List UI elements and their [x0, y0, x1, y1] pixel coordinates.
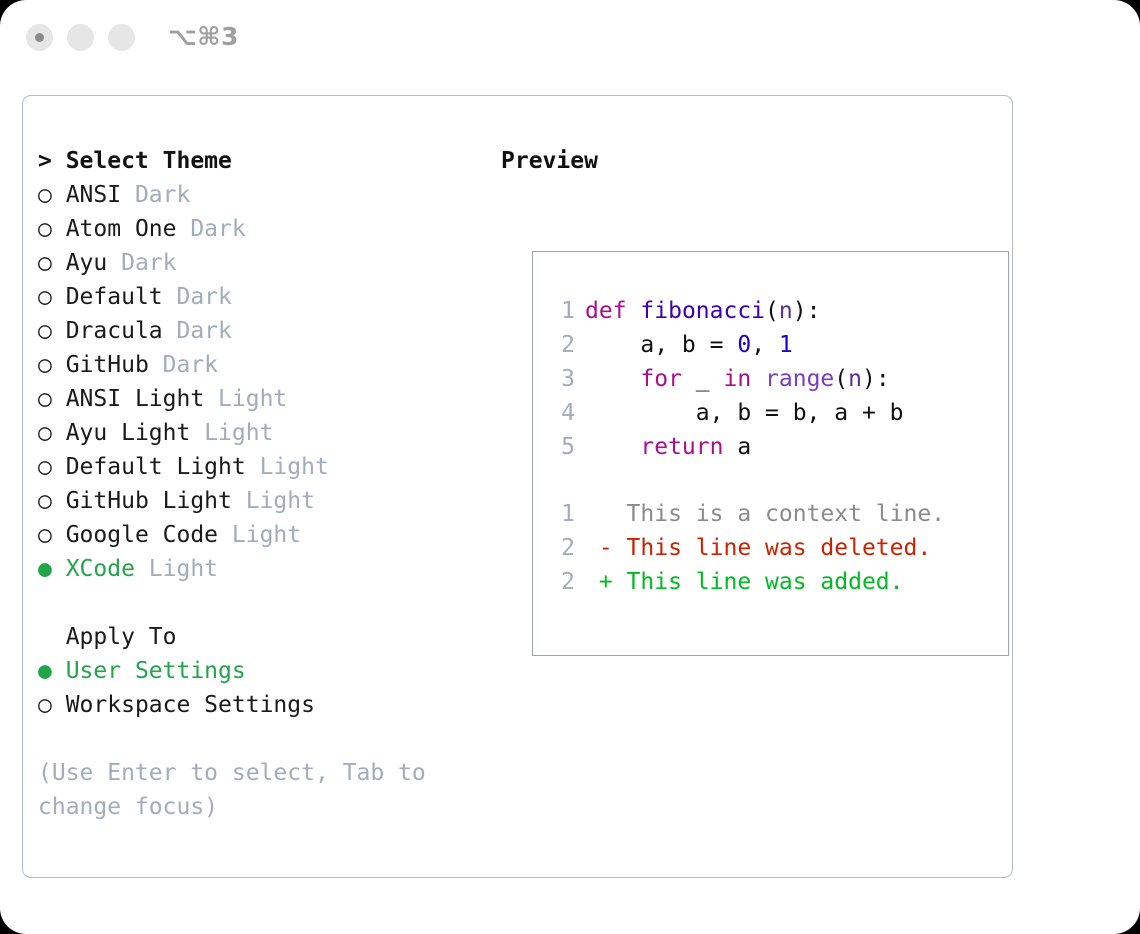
code-token [751, 366, 765, 392]
theme-category: Light [246, 488, 315, 514]
minimize-button-icon[interactable] [67, 24, 94, 51]
code-line-number: 5 [553, 430, 575, 464]
apply-to-label: Apply To [66, 624, 177, 650]
code-token [627, 298, 641, 324]
theme-name: Ayu Light [66, 420, 204, 446]
radio-unselected-icon[interactable]: ○ [38, 420, 66, 446]
code-token: ): [793, 298, 821, 324]
theme-name: XCode [66, 556, 149, 582]
theme-selector-panel: > Select Theme ○ ANSI Dark○ Atom One Dar… [22, 95, 1013, 878]
diff-line: 2 + This line was added. [553, 565, 945, 599]
theme-category: Dark [135, 182, 190, 208]
theme-category: Light [260, 454, 329, 480]
theme-category: Light [218, 386, 287, 412]
code-line-number: 1 [553, 294, 575, 328]
theme-list-item[interactable]: ○ GitHub Dark [38, 348, 478, 382]
theme-category: Light [149, 556, 218, 582]
window-controls [26, 24, 135, 51]
close-dot [35, 33, 44, 42]
select-theme-heading: > Select Theme [38, 144, 478, 178]
radio-selected-icon[interactable]: ● [38, 556, 66, 582]
radio-unselected-icon[interactable]: ○ [38, 284, 66, 310]
code-token: range [765, 366, 834, 392]
theme-name: GitHub [66, 352, 163, 378]
theme-category: Dark [176, 318, 231, 344]
diff-line-text: This is a context line. [585, 501, 945, 527]
code-line-number: 2 [553, 328, 575, 362]
diff-line-number: 1 [553, 497, 575, 531]
code-token: in [723, 366, 751, 392]
code-token: a, b = b, a + b [585, 400, 904, 426]
theme-name: GitHub Light [66, 488, 246, 514]
theme-name: Default Light [66, 454, 260, 480]
radio-unselected-icon[interactable]: ○ [38, 250, 66, 276]
radio-unselected-icon[interactable]: ○ [38, 216, 66, 242]
apply-to-options: ● User Settings○ Workspace Settings [38, 654, 478, 722]
theme-category: Dark [163, 352, 218, 378]
code-token [585, 434, 640, 460]
theme-list-item[interactable]: ○ Default Light Light [38, 450, 478, 484]
theme-list-item[interactable]: ● XCode Light [38, 552, 478, 586]
theme-category: Light [232, 522, 301, 548]
theme-category: Dark [176, 284, 231, 310]
hint-spacer [38, 722, 478, 756]
preview-box: 1def fibonacci(n):2 a, b = 0, 13 for _ i… [532, 251, 1009, 656]
preview-heading: Preview [501, 144, 1001, 178]
code-line: 5 return a [553, 430, 904, 464]
apply-to-option[interactable]: ● User Settings [38, 654, 478, 688]
apply-to-option-label: Workspace Settings [66, 692, 315, 718]
code-token: def [585, 298, 627, 324]
theme-list: ○ ANSI Dark○ Atom One Dark○ Ayu Dark○ De… [38, 178, 478, 586]
keyboard-hint-text: (Use Enter to select, Tab to change focu… [38, 756, 448, 824]
theme-list-item[interactable]: ○ Dracula Dark [38, 314, 478, 348]
theme-name: ANSI Light [66, 386, 218, 412]
theme-list-item[interactable]: ○ ANSI Light Light [38, 382, 478, 416]
apply-to-option[interactable]: ○ Workspace Settings [38, 688, 478, 722]
right-column: Preview 1def fibonacci(n):2 a, b = 0, 13… [501, 144, 1001, 178]
code-line: 2 a, b = 0, 1 [553, 328, 904, 362]
diff-sample: 1 This is a context line.2 - This line w… [553, 497, 945, 599]
code-line: 3 for _ in range(n): [553, 362, 904, 396]
code-token [585, 366, 640, 392]
theme-list-item[interactable]: ○ Ayu Dark [38, 246, 478, 280]
code-token: , [751, 332, 779, 358]
code-token: for [640, 366, 682, 392]
apply-to-indent [38, 624, 66, 650]
close-button-icon[interactable] [26, 24, 53, 51]
code-token: ): [862, 366, 890, 392]
code-token: ( [834, 366, 848, 392]
code-token: n [848, 366, 862, 392]
diff-line: 1 This is a context line. [553, 497, 945, 531]
code-token: 1 [779, 332, 793, 358]
radio-unselected-icon[interactable]: ○ [38, 352, 66, 378]
theme-name: Dracula [66, 318, 177, 344]
title-bar: ⌥⌘3 [0, 0, 1140, 78]
code-line: 1def fibonacci(n): [553, 294, 904, 328]
theme-category: Light [204, 420, 273, 446]
list-spacer [38, 586, 478, 620]
theme-category: Dark [190, 216, 245, 242]
theme-list-item[interactable]: ○ Ayu Light Light [38, 416, 478, 450]
radio-unselected-icon[interactable]: ○ [38, 692, 66, 718]
radio-unselected-icon[interactable]: ○ [38, 318, 66, 344]
code-token: return [640, 434, 723, 460]
theme-name: Google Code [66, 522, 232, 548]
radio-unselected-icon[interactable]: ○ [38, 386, 66, 412]
theme-list-item[interactable]: ○ ANSI Dark [38, 178, 478, 212]
code-token: ( [765, 298, 779, 324]
code-token: 0 [737, 332, 751, 358]
code-line-number: 4 [553, 396, 575, 430]
code-token: _ [682, 366, 724, 392]
theme-category: Dark [121, 250, 176, 276]
radio-unselected-icon[interactable]: ○ [38, 488, 66, 514]
theme-list-item[interactable]: ○ Atom One Dark [38, 212, 478, 246]
radio-unselected-icon[interactable]: ○ [38, 454, 66, 480]
theme-name: ANSI [66, 182, 135, 208]
code-token: n [779, 298, 793, 324]
diff-line-number: 2 [553, 531, 575, 565]
theme-name: Ayu [66, 250, 121, 276]
code-line: 4 a, b = b, a + b [553, 396, 904, 430]
code-token: a [723, 434, 751, 460]
apply-to-option-label: User Settings [66, 658, 246, 684]
radio-unselected-icon[interactable]: ○ [38, 182, 66, 208]
apply-to-heading: Apply To [38, 620, 478, 654]
left-column: > Select Theme ○ ANSI Dark○ Atom One Dar… [38, 144, 478, 824]
code-token: a, b = [585, 332, 737, 358]
radio-unselected-icon[interactable]: ○ [38, 522, 66, 548]
theme-name: Atom One [66, 216, 191, 242]
diff-line-number: 2 [553, 565, 575, 599]
theme-name: Default [66, 284, 177, 310]
terminal-window: ⌥⌘3 > Select Theme ○ ANSI Dark○ Atom One… [0, 0, 1140, 934]
diff-line: 2 - This line was deleted. [553, 531, 945, 565]
code-token: fibonacci [640, 298, 765, 324]
diff-line-text: + This line was added. [585, 569, 904, 595]
radio-selected-icon[interactable]: ● [38, 658, 66, 684]
theme-list-item[interactable]: ○ Default Dark [38, 280, 478, 314]
zoom-button-icon[interactable] [108, 24, 135, 51]
code-line-number: 3 [553, 362, 575, 396]
diff-line-text: - This line was deleted. [585, 535, 931, 561]
code-sample: 1def fibonacci(n):2 a, b = 0, 13 for _ i… [553, 294, 904, 464]
theme-list-item[interactable]: ○ GitHub Light Light [38, 484, 478, 518]
theme-list-item[interactable]: ○ Google Code Light [38, 518, 478, 552]
keyboard-shortcut-label: ⌥⌘3 [168, 22, 239, 51]
